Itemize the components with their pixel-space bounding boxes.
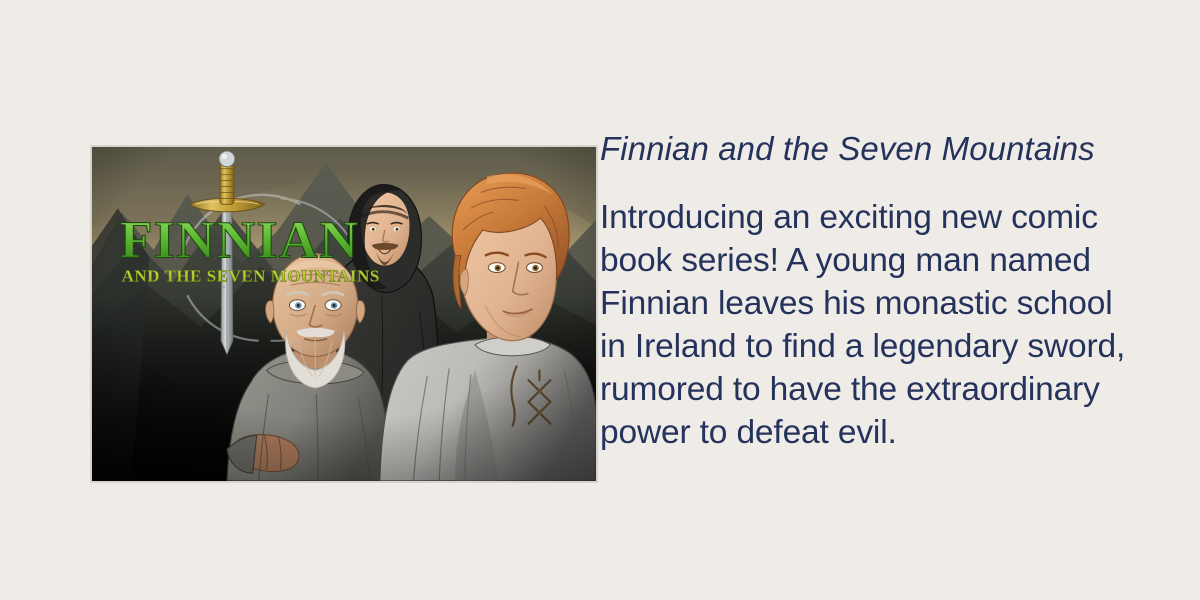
comic-cover-image[interactable]: FINNIAN AND THE SEVEN MOUNTAINS (90, 145, 598, 483)
promo-card: FINNIAN AND THE SEVEN MOUNTAINS Finnian … (0, 0, 1200, 600)
description-line: in Ireland to find a legendary sword, (600, 325, 1160, 368)
cover-artwork: FINNIAN AND THE SEVEN MOUNTAINS (92, 147, 596, 481)
description-line: power to defeat evil. (600, 411, 1160, 454)
series-title: Finnian and the Seven Mountains (600, 128, 1160, 170)
description-line: Finnian leaves his monastic school (600, 282, 1160, 325)
description-line: rumored to have the extraordinary (600, 368, 1160, 411)
description-line: Introducing an exciting new comic (600, 196, 1160, 239)
series-description: Introducing an exciting new comic book s… (600, 196, 1160, 454)
description-line: book series! A young man named (600, 239, 1160, 282)
promo-text-column: Finnian and the Seven Mountains Introduc… (600, 128, 1160, 454)
